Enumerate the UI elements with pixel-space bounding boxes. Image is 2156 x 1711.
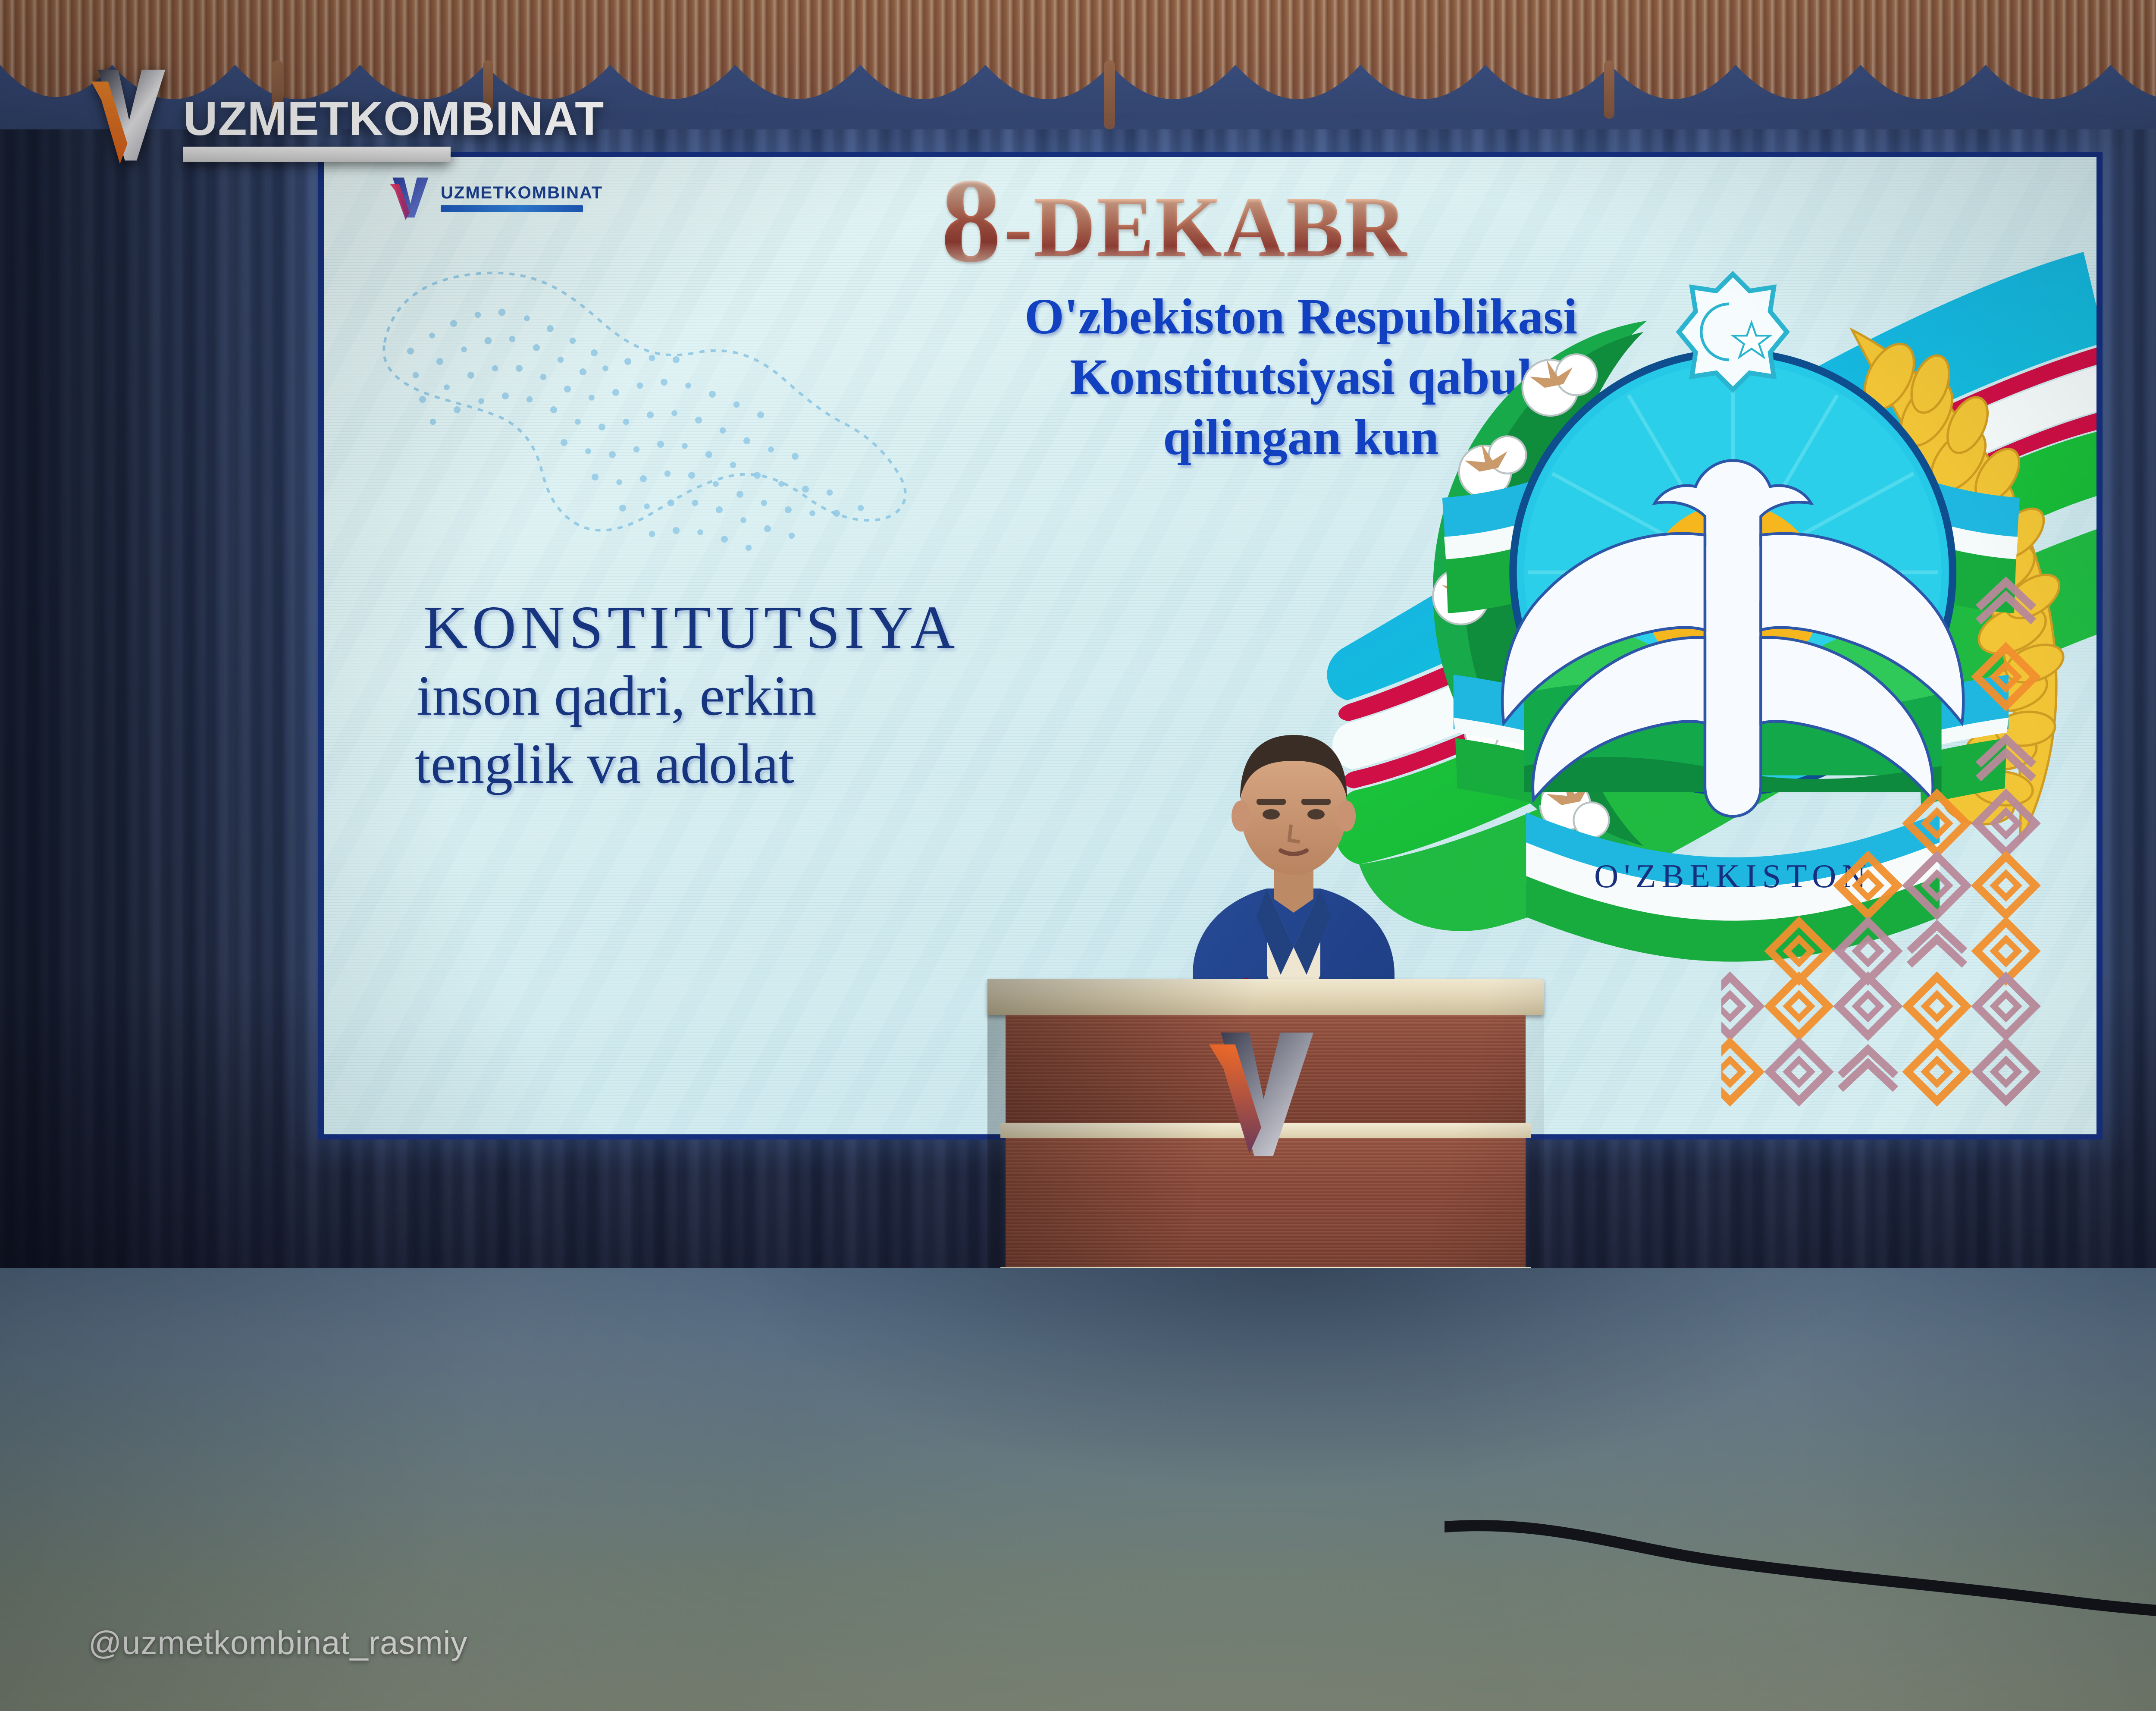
- podium-top-surface: [987, 979, 1544, 1015]
- uzmetkombinat-v-logo-icon: [86, 65, 170, 164]
- slide-brand-underline: [441, 205, 583, 212]
- social-handle: @uzmetkombinat_rasmiy: [88, 1624, 468, 1662]
- podium-floor-shadow: [733, 1268, 1854, 1492]
- photo-scene: UZMETKOMBINAT 8 -DEKABR O'zbekiston Resp…: [0, 0, 2156, 1711]
- podium-uzmetkombinat-v-logo-icon: [1190, 1023, 1332, 1165]
- uzbek-ornament-pattern-icon: [1721, 562, 2096, 1119]
- slide-brand-logo: UZMETKOMBINAT: [389, 175, 603, 220]
- uzmetkombinat-v-logo-icon: [389, 175, 430, 220]
- watermark-underline: [183, 147, 451, 162]
- slide-day-number: 8: [941, 166, 1004, 274]
- uzbekistan-dotted-map-icon: [350, 239, 928, 584]
- watermark-logo: UZMETKOMBINAT: [86, 65, 604, 164]
- slide-brand-name: UZMETKOMBINAT: [441, 183, 603, 203]
- watermark-brand-name: UZMETKOMBINAT: [183, 97, 604, 141]
- floor-cable-icon: [1445, 1501, 2156, 1630]
